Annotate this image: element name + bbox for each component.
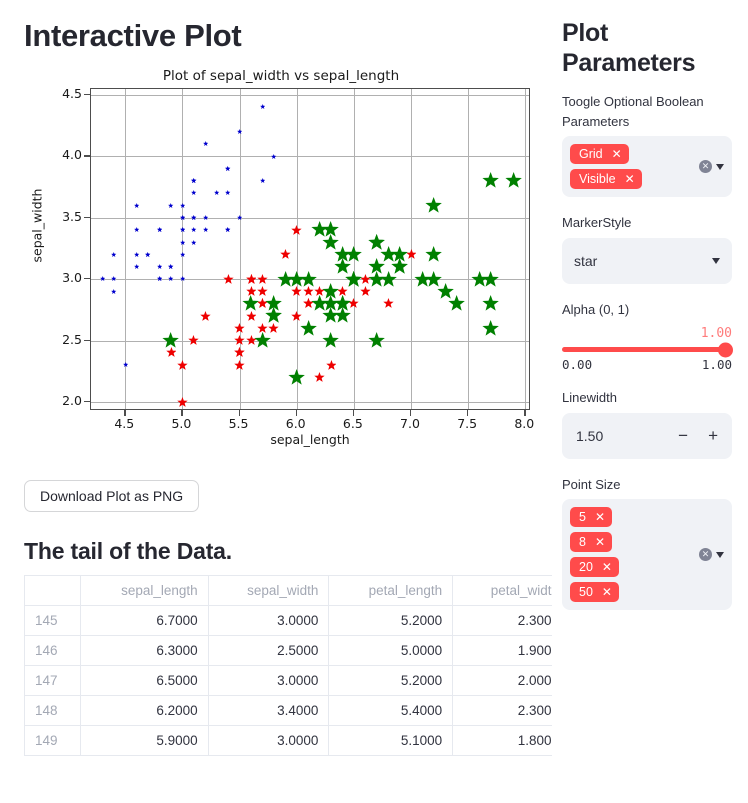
alpha-min-label: 0.00: [562, 357, 592, 372]
data-point-setosa: [168, 264, 173, 269]
cell-petal_length: 5.2000: [329, 665, 453, 695]
alpha-label: Alpha (0, 1): [562, 300, 732, 320]
alpha-slider-track[interactable]: [562, 347, 732, 352]
x-tick-label: 4.5: [99, 416, 149, 431]
data-point-virginica: [448, 295, 465, 312]
y-tick-label: 2.5: [46, 332, 82, 347]
x-tick-label: 8.0: [499, 416, 549, 431]
cell-sepal_width: 3.4000: [208, 695, 329, 725]
data-point-setosa: [134, 252, 139, 257]
data-point-setosa: [180, 240, 185, 245]
table-row: 1486.20003.40005.40002.3000: [25, 695, 553, 725]
data-point-setosa: [180, 276, 185, 281]
data-point-virginica: [368, 234, 385, 251]
table-header-row: sepal_lengthsepal_widthpetal_lengthpetal…: [25, 575, 553, 605]
tag-point-size-5[interactable]: 5✕: [570, 507, 612, 527]
y-tick-label: 4.5: [46, 86, 82, 101]
data-point-virginica: [254, 332, 271, 349]
y-tick-label: 2.0: [46, 393, 82, 408]
x-tick-label: 5.0: [156, 416, 206, 431]
y-tick-label: 3.5: [46, 209, 82, 224]
data-point-setosa: [180, 215, 185, 220]
cell-sepal_length: 5.9000: [81, 725, 209, 755]
marker-style-value: star: [574, 253, 597, 269]
data-point-versicolor: [177, 360, 188, 371]
data-point-setosa: [134, 227, 139, 232]
point-size-multiselect-actions: ✕: [699, 548, 726, 561]
tag-point-size-remove-icon[interactable]: ✕: [602, 586, 612, 598]
table-body: 1456.70003.00005.20002.30001466.30002.50…: [25, 605, 553, 755]
cell-sepal_width: 3.0000: [208, 605, 329, 635]
data-point-virginica: [425, 246, 442, 263]
tag-visible-label: Visible: [579, 172, 616, 186]
data-point-virginica: [482, 271, 499, 288]
data-point-virginica: [505, 172, 522, 189]
data-point-versicolor: [314, 372, 325, 383]
data-point-setosa: [203, 227, 208, 232]
data-point-setosa: [191, 178, 196, 183]
cell-petal_width: 2.0000: [453, 665, 552, 695]
data-point-virginica: [311, 221, 328, 238]
boolean-multiselect-actions: ✕: [699, 160, 726, 173]
data-point-virginica: [345, 271, 362, 288]
data-table-heading: The tail of the Data.: [24, 538, 552, 565]
data-point-versicolor: [200, 311, 211, 322]
point-size-multiselect[interactable]: 5✕8✕20✕50✕ ✕: [562, 499, 732, 610]
data-point-virginica: [288, 369, 305, 386]
cell-petal_width: 2.3000: [453, 605, 552, 635]
y-axis-label: sepal_width: [29, 188, 44, 262]
x-axis-label: sepal_length: [90, 432, 530, 447]
boolean-params-multiselect[interactable]: Grid ✕ Visible ✕ ✕: [562, 136, 732, 197]
row-index: 149: [25, 725, 81, 755]
data-point-setosa: [260, 178, 265, 183]
marker-style-control: MarkerStyle star: [562, 213, 732, 284]
data-point-setosa: [180, 252, 185, 257]
x-tick-label: 6.0: [271, 416, 321, 431]
data-point-setosa: [225, 190, 230, 195]
data-point-setosa: [134, 264, 139, 269]
x-tick-mark: [181, 410, 182, 416]
alpha-slider-thumb[interactable]: [718, 342, 733, 357]
gridline-vertical: [297, 89, 298, 409]
data-point-setosa: [237, 129, 242, 134]
gridline-vertical: [468, 89, 469, 409]
data-point-setosa: [237, 215, 242, 220]
table-row: 1476.50003.00005.20002.0000: [25, 665, 553, 695]
data-point-setosa: [203, 141, 208, 146]
data-point-setosa: [191, 227, 196, 232]
cell-sepal_length: 6.7000: [81, 605, 209, 635]
data-point-setosa: [168, 203, 173, 208]
point-size-tags: 5✕8✕20✕50✕: [570, 507, 619, 602]
data-point-virginica: [265, 307, 282, 324]
linewidth-decrement-button[interactable]: −: [678, 427, 688, 444]
main-content: Interactive Plot Plot of sepal_width vs …: [0, 0, 552, 803]
x-tick-mark: [467, 410, 468, 416]
data-point-setosa: [157, 227, 162, 232]
data-point-setosa: [180, 227, 185, 232]
cell-petal_length: 5.2000: [329, 605, 453, 635]
table-row: 1456.70003.00005.20002.3000: [25, 605, 553, 635]
y-tick-label: 3.0: [46, 270, 82, 285]
data-point-versicolor: [291, 225, 302, 236]
tag-point-size-label: 5: [579, 510, 586, 524]
data-point-setosa: [203, 215, 208, 220]
data-point-versicolor: [280, 249, 291, 260]
point-size-control: Point Size 5✕8✕20✕50✕ ✕: [562, 475, 732, 611]
data-point-setosa: [225, 166, 230, 171]
cell-sepal_length: 6.5000: [81, 665, 209, 695]
column-header-petal_length: petal_length: [329, 575, 453, 605]
column-header-petal_width: petal_width: [453, 575, 552, 605]
gridline-horizontal: [91, 341, 529, 342]
data-point-setosa: [111, 276, 116, 281]
linewidth-number-input[interactable]: 1.50 − +: [562, 413, 732, 459]
alpha-slider[interactable]: 1.00 0.00 1.00: [562, 324, 732, 372]
chevron-down-icon[interactable]: [716, 552, 724, 558]
data-point-setosa: [168, 276, 173, 281]
x-tick-label: 7.5: [442, 416, 492, 431]
tag-point-size-label: 8: [579, 535, 586, 549]
gridline-vertical: [525, 89, 526, 409]
data-point-setosa: [260, 104, 265, 109]
data-point-setosa: [134, 203, 139, 208]
parameters-sidebar: Plot Parameters Toogle Optional Boolean …: [552, 0, 748, 803]
data-point-setosa: [225, 227, 230, 232]
row-index: 145: [25, 605, 81, 635]
alpha-max-label: 1.00: [702, 357, 732, 372]
cell-petal_width: 1.8000: [453, 725, 552, 755]
x-tick-mark: [124, 410, 125, 416]
y-tick-mark: [84, 340, 90, 341]
data-point-versicolor: [177, 397, 188, 408]
cell-petal_length: 5.0000: [329, 635, 453, 665]
tag-point-size-remove-icon[interactable]: ✕: [595, 536, 605, 548]
gridline-horizontal: [91, 218, 529, 219]
data-point-versicolor: [234, 347, 245, 358]
tag-grid[interactable]: Grid ✕: [570, 144, 629, 164]
x-tick-mark: [410, 410, 411, 416]
data-point-setosa: [123, 362, 128, 367]
point-size-label: Point Size: [562, 475, 732, 495]
data-point-versicolor: [234, 335, 245, 346]
data-point-virginica: [242, 295, 259, 312]
tag-point-size-50[interactable]: 50✕: [570, 582, 619, 602]
data-point-virginica: [425, 197, 442, 214]
y-tick-mark: [84, 401, 90, 402]
data-point-setosa: [271, 154, 276, 159]
tag-point-size-remove-icon[interactable]: ✕: [595, 511, 605, 523]
data-point-versicolor: [234, 360, 245, 371]
tag-point-size-8[interactable]: 8✕: [570, 532, 612, 552]
tag-visible[interactable]: Visible ✕: [570, 169, 642, 189]
x-tick-mark: [296, 410, 297, 416]
cell-sepal_length: 6.3000: [81, 635, 209, 665]
linewidth-steppers: − +: [678, 427, 718, 444]
cell-petal_width: 1.9000: [453, 635, 552, 665]
plot-axes: [90, 88, 530, 410]
plot-title: Plot of sepal_width vs sepal_length: [24, 68, 538, 84]
tag-point-size-label: 50: [579, 585, 593, 599]
boolean-tags: Grid ✕ Visible ✕: [570, 144, 642, 189]
data-point-versicolor: [326, 360, 337, 371]
data-point-setosa: [145, 252, 150, 257]
x-tick-mark: [239, 410, 240, 416]
sidebar-title: Plot Parameters: [562, 18, 732, 78]
x-tick-label: 6.5: [328, 416, 378, 431]
cell-sepal_width: 3.0000: [208, 725, 329, 755]
linewidth-control: Linewidth 1.50 − +: [562, 388, 732, 459]
data-point-setosa: [191, 240, 196, 245]
boolean-params-control: Toogle Optional Boolean Parameters Grid …: [562, 92, 732, 197]
table-row: 1495.90003.00005.10001.8000: [25, 725, 553, 755]
tag-point-size-20[interactable]: 20✕: [570, 557, 619, 577]
row-index: 147: [25, 665, 81, 695]
data-point-versicolor: [188, 335, 199, 346]
x-tick-mark: [353, 410, 354, 416]
cell-sepal_width: 3.0000: [208, 665, 329, 695]
linewidth-increment-button[interactable]: +: [708, 427, 718, 444]
table-header: sepal_lengthsepal_widthpetal_lengthpetal…: [25, 575, 553, 605]
data-point-setosa: [157, 264, 162, 269]
download-plot-button[interactable]: Download Plot as PNG: [24, 480, 199, 512]
linewidth-label: Linewidth: [562, 388, 732, 408]
cell-petal_length: 5.1000: [329, 725, 453, 755]
data-point-versicolor: [223, 274, 234, 285]
data-point-setosa: [180, 203, 185, 208]
y-tick-mark: [84, 278, 90, 279]
data-point-virginica: [162, 332, 179, 349]
data-point-setosa: [214, 190, 219, 195]
data-point-versicolor: [257, 274, 268, 285]
gridline-horizontal: [91, 156, 529, 157]
data-point-setosa: [111, 252, 116, 257]
chevron-down-icon[interactable]: [712, 258, 720, 264]
gridline-horizontal: [91, 402, 529, 403]
column-header-sepal_length: sepal_length: [81, 575, 209, 605]
data-point-virginica: [368, 332, 385, 349]
alpha-control: Alpha (0, 1) 1.00 0.00 1.00: [562, 300, 732, 373]
data-point-setosa: [157, 276, 162, 281]
table-row: 1466.30002.50005.00001.9000: [25, 635, 553, 665]
marker-style-label: MarkerStyle: [562, 213, 732, 233]
cell-sepal_width: 2.5000: [208, 635, 329, 665]
x-tick-label: 7.0: [385, 416, 435, 431]
tag-grid-remove-icon[interactable]: ✕: [612, 148, 622, 160]
clear-all-icon[interactable]: ✕: [699, 160, 712, 173]
data-point-virginica: [277, 271, 294, 288]
alpha-current-value: 1.00: [562, 326, 732, 341]
data-point-virginica: [482, 320, 499, 337]
data-point-virginica: [482, 295, 499, 312]
cell-petal_length: 5.4000: [329, 695, 453, 725]
column-header-sepal_width: sepal_width: [208, 575, 329, 605]
scatter-plot: Plot of sepal_width vs sepal_length sepa…: [24, 68, 538, 468]
x-tick-mark: [524, 410, 525, 416]
linewidth-value[interactable]: 1.50: [576, 428, 603, 444]
data-point-virginica: [300, 320, 317, 337]
boolean-params-label: Toogle Optional Boolean Parameters: [562, 92, 732, 131]
data-point-virginica: [322, 332, 339, 349]
data-point-virginica: [425, 271, 442, 288]
row-index: 146: [25, 635, 81, 665]
gridline-horizontal: [91, 95, 529, 96]
chevron-down-icon[interactable]: [716, 164, 724, 170]
page-title: Interactive Plot: [24, 18, 552, 54]
y-tick-mark: [84, 94, 90, 95]
tag-point-size-label: 20: [579, 560, 593, 574]
tag-grid-label: Grid: [579, 147, 603, 161]
data-point-setosa: [100, 276, 105, 281]
table-index-corner: [25, 575, 81, 605]
data-point-versicolor: [383, 298, 394, 309]
y-tick-mark: [84, 217, 90, 218]
x-tick-label: 5.5: [214, 416, 264, 431]
tag-visible-remove-icon[interactable]: ✕: [625, 173, 635, 185]
data-point-setosa: [111, 289, 116, 294]
data-point-versicolor: [234, 323, 245, 334]
gridline-vertical: [125, 89, 126, 409]
tail-data-table: sepal_lengthsepal_widthpetal_lengthpetal…: [24, 575, 552, 756]
y-tick-mark: [84, 155, 90, 156]
cell-petal_width: 2.3000: [453, 695, 552, 725]
data-point-setosa: [191, 215, 196, 220]
data-point-setosa: [191, 190, 196, 195]
row-index: 148: [25, 695, 81, 725]
alpha-slider-bounds: 0.00 1.00: [562, 357, 732, 372]
data-point-virginica: [368, 271, 385, 288]
tag-point-size-remove-icon[interactable]: ✕: [602, 561, 612, 573]
y-tick-label: 4.0: [46, 147, 82, 162]
data-point-versicolor: [246, 274, 257, 285]
data-point-virginica: [322, 295, 339, 312]
cell-sepal_length: 6.2000: [81, 695, 209, 725]
marker-style-select[interactable]: star: [562, 238, 732, 284]
data-point-virginica: [482, 172, 499, 189]
data-table-container: sepal_lengthsepal_widthpetal_lengthpetal…: [24, 575, 552, 756]
clear-all-icon[interactable]: ✕: [699, 548, 712, 561]
